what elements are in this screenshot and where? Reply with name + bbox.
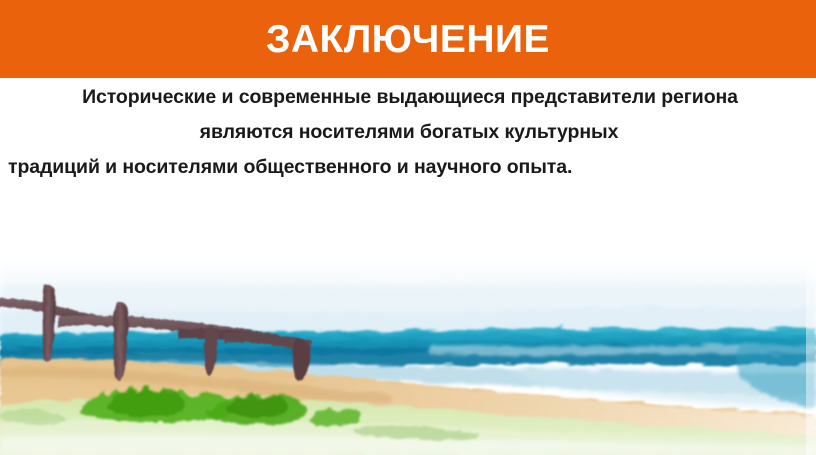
- top-edge-fade: [0, 255, 816, 261]
- page-title: ЗАКЛЮЧЕНИЕ: [256, 20, 560, 59]
- body-text-line-3: традиций и носителями общественного и на…: [0, 150, 816, 185]
- body-text-block: Исторические и современные выдающиеся пр…: [0, 80, 816, 200]
- body-text-line-1: Исторические и современные выдающиеся пр…: [0, 80, 816, 115]
- right-edge-fade: [806, 255, 816, 455]
- beach-scene-svg: [0, 255, 816, 455]
- header-banner: ЗАКЛЮЧЕНИЕ: [0, 0, 816, 78]
- watercolor-beach-image: [0, 255, 816, 455]
- body-text-line-2: являются носителями богатых культурных: [0, 115, 816, 150]
